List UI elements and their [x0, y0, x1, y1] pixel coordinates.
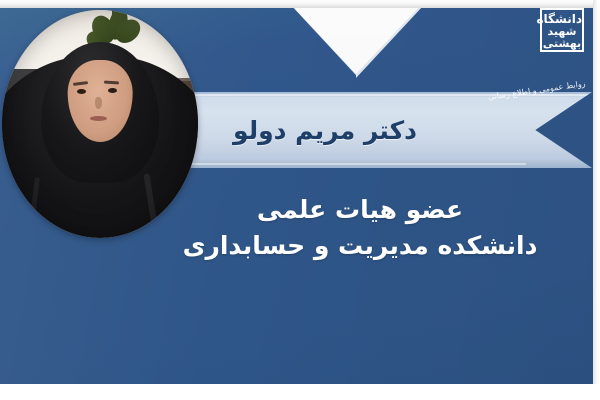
university-logo-icon: دانشگاه شهید بهشتی [540, 8, 584, 52]
faculty-info-card: دکتر مریم دولو [0, 0, 600, 400]
chevron-triangle-edge [289, 6, 423, 78]
garment-fold [24, 177, 40, 238]
person-nose [95, 97, 102, 109]
logo-calligraphy-line-3: بهشتی [542, 38, 582, 49]
person-eye [77, 89, 86, 94]
faculty-title-line-1: عضو هیات علمی [150, 192, 570, 228]
top-chevron-notch [292, 6, 420, 74]
faculty-title-line-2: دانشکده مدیریت و حسابداری [150, 228, 570, 264]
university-logo: دانشگاه شهید بهشتی روابط عمومی و اطلاع ر… [500, 4, 588, 90]
logo-calligraphy-line-1: دانشگاه [542, 13, 582, 25]
faculty-titles: عضو هیات علمی دانشکده مدیریت و حسابداری [150, 192, 570, 265]
top-edge-strip [0, 0, 600, 8]
right-edge-strip [593, 0, 600, 400]
person-eyebrow [104, 80, 119, 84]
bottom-edge-strip [0, 384, 600, 400]
person-eye [108, 88, 117, 93]
logo-calligraphy-line-2: شهید [542, 26, 582, 37]
